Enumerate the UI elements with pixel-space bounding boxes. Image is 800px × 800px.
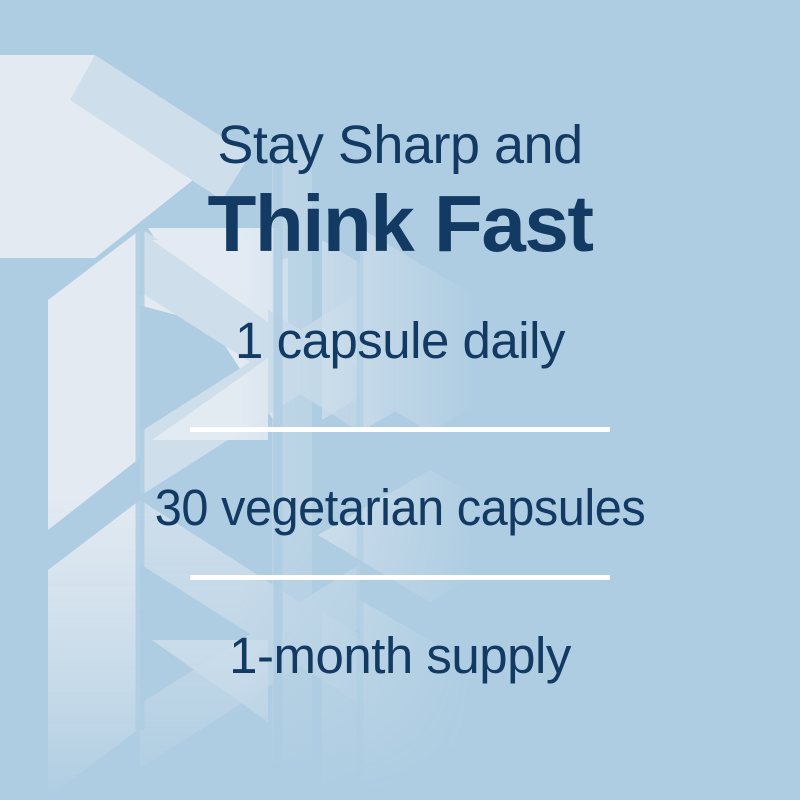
- divider-rule-1: [190, 427, 610, 432]
- dosage-text: 1 capsule daily: [0, 315, 800, 366]
- supply-duration-text: 1-month supply: [0, 630, 800, 681]
- divider-rule-2: [190, 575, 610, 580]
- capsule-count-text: 30 vegetarian capsules: [18, 482, 782, 533]
- copy-block: Stay Sharp and Think Fast 1 capsule dail…: [0, 0, 800, 800]
- eyebrow-text: Stay Sharp and: [0, 118, 800, 172]
- page-title: Think Fast: [0, 184, 800, 264]
- product-benefit-panel: Stay Sharp and Think Fast 1 capsule dail…: [0, 0, 800, 800]
